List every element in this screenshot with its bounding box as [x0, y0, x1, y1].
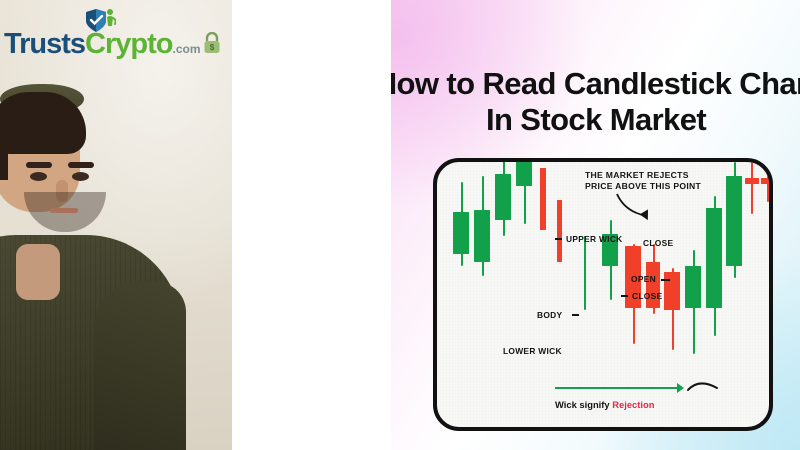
candle-3-body	[495, 174, 511, 220]
tick-body	[572, 314, 579, 316]
page-title: How to Read Candlestick Chart In Stock M…	[391, 66, 800, 138]
candle-4-body	[516, 158, 532, 186]
candlestick-chart: THE MARKET REJECTS PRICE ABOVE THIS POIN…	[437, 162, 769, 427]
candle-2-body	[474, 210, 490, 262]
tick-open-right	[661, 279, 670, 281]
tick-upper-wick	[555, 238, 562, 240]
candle-15-body	[745, 178, 759, 184]
annotation-market-rejects: THE MARKET REJECTS PRICE ABOVE THIS POIN…	[585, 170, 701, 191]
arrow-to-rejection-candle	[615, 192, 661, 222]
candle-7-wick	[584, 236, 586, 310]
eye-right	[72, 172, 89, 181]
svg-text:$: $	[210, 43, 215, 52]
neck	[16, 244, 60, 300]
footer-caption-highlight: Rejection	[612, 399, 654, 410]
tick-close-left	[621, 295, 628, 297]
rejection-arrow-line	[555, 387, 680, 389]
candlestick-diagram-card: THE MARKET REJECTS PRICE ABOVE THIS POIN…	[433, 158, 773, 431]
annotation-market-rejects-line2: PRICE ABOVE THIS POINT	[585, 181, 701, 191]
rejection-arrow-head	[677, 383, 684, 393]
annotation-close-right: CLOSE	[643, 238, 673, 249]
annotation-lower-wick: LOWER WICK	[503, 346, 562, 357]
candle-15-wick	[751, 158, 753, 214]
candle-12-body	[685, 266, 701, 308]
curved-pointer-icon	[687, 376, 721, 396]
person-photo	[0, 90, 156, 450]
logo-text-trusts: Trusts	[4, 28, 85, 60]
candle-5-body	[540, 168, 546, 230]
candle-14-body	[726, 176, 742, 266]
candle-13-body	[706, 208, 722, 308]
logo-text-tld: .com	[172, 42, 200, 56]
annotation-close-left: CLOSE	[632, 291, 662, 302]
padlock-icon: $	[203, 32, 221, 54]
candle-16-body	[761, 178, 773, 184]
sweater-arm	[94, 282, 186, 450]
article-panel: How to Read Candlestick Chart In Stock M…	[391, 0, 800, 450]
screenshot-root: TrustsCrypto.com $ How to Read Candlesti…	[0, 0, 800, 450]
annotation-market-rejects-line1: THE MARKET REJECTS	[585, 170, 689, 180]
site-logo[interactable]: TrustsCrypto.com $	[4, 16, 228, 68]
mouth	[50, 208, 78, 213]
annotation-upper-wick: UPPER WICK	[566, 234, 623, 245]
annotation-body: BODY	[537, 310, 562, 321]
hair-side	[0, 120, 8, 180]
eyebrow-left	[26, 162, 52, 168]
logo-wordmark: TrustsCrypto.com	[4, 30, 228, 59]
logo-text-crypto: Crypto	[85, 28, 172, 60]
eye-left	[30, 172, 47, 181]
candle-1-body	[453, 212, 469, 254]
candle-11-body	[664, 272, 680, 310]
photo-panel: TrustsCrypto.com $	[0, 0, 232, 450]
title-line-2: In Stock Market	[391, 102, 800, 138]
eyebrow-right	[68, 162, 94, 168]
candle-6-body	[557, 200, 562, 262]
footer-caption: Wick signify Rejection	[555, 399, 654, 410]
title-line-1: How to Read Candlestick Chart	[391, 66, 800, 101]
annotation-open-right: OPEN	[631, 274, 656, 285]
footer-caption-text: Wick signify	[555, 399, 612, 410]
